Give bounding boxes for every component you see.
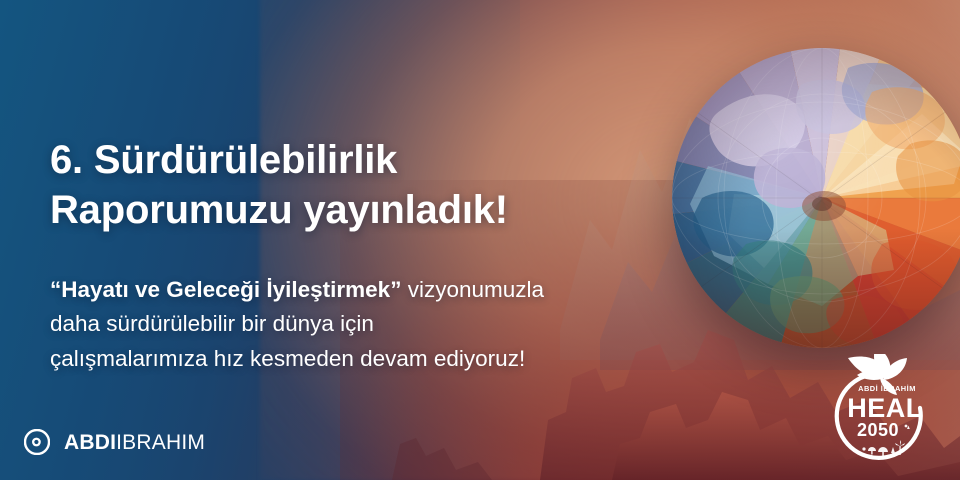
subcopy-line-2: daha sürdürülebilir bir dünya için <box>50 307 690 342</box>
headline-line-1: 6. Sürdürülebilirlik <box>50 135 690 185</box>
abdi-ibrahim-wordmark: ABDIIBRAHIM <box>64 432 205 453</box>
subcopy-line-1-rest: vizyonumuzla <box>401 277 544 302</box>
subcopy: “Hayatı ve Geleceği İyileştirmek” vizyon… <box>50 273 690 378</box>
globe-bottom-fade <box>672 228 960 348</box>
subcopy-line-3: çalışmalarımıza hız kesmeden devam ediyo… <box>50 342 690 377</box>
abdi-ibrahim-eye-icon <box>24 429 50 455</box>
sustainability-report-banner: 6. Sürdürülebilirlik Raporumuzu yayınlad… <box>0 0 960 480</box>
wordmark-light: IBRAHIM <box>116 431 205 454</box>
wordmark-bold: ABDI <box>64 431 116 454</box>
badge-title: HEAL <box>847 393 923 423</box>
subcopy-line-1: “Hayatı ve Geleceği İyileştirmek” vizyon… <box>50 273 690 308</box>
world-globe-graphic <box>672 48 960 348</box>
heal-2050-badge: ABDİ İBRAHİM HEAL 2050 <box>812 354 938 466</box>
abdi-ibrahim-logo: ABDIIBRAHIM <box>24 429 205 455</box>
headline: 6. Sürdürülebilirlik Raporumuzu yayınlad… <box>50 135 690 236</box>
headline-line-2: Raporumuzu yayınladık! <box>50 185 690 235</box>
badge-year: 2050 <box>857 420 899 440</box>
vision-quote: “Hayatı ve Geleceği İyileştirmek” <box>50 277 401 302</box>
badge-brand: ABDİ İBRAHİM <box>858 384 916 393</box>
globe-sphere <box>672 48 960 348</box>
